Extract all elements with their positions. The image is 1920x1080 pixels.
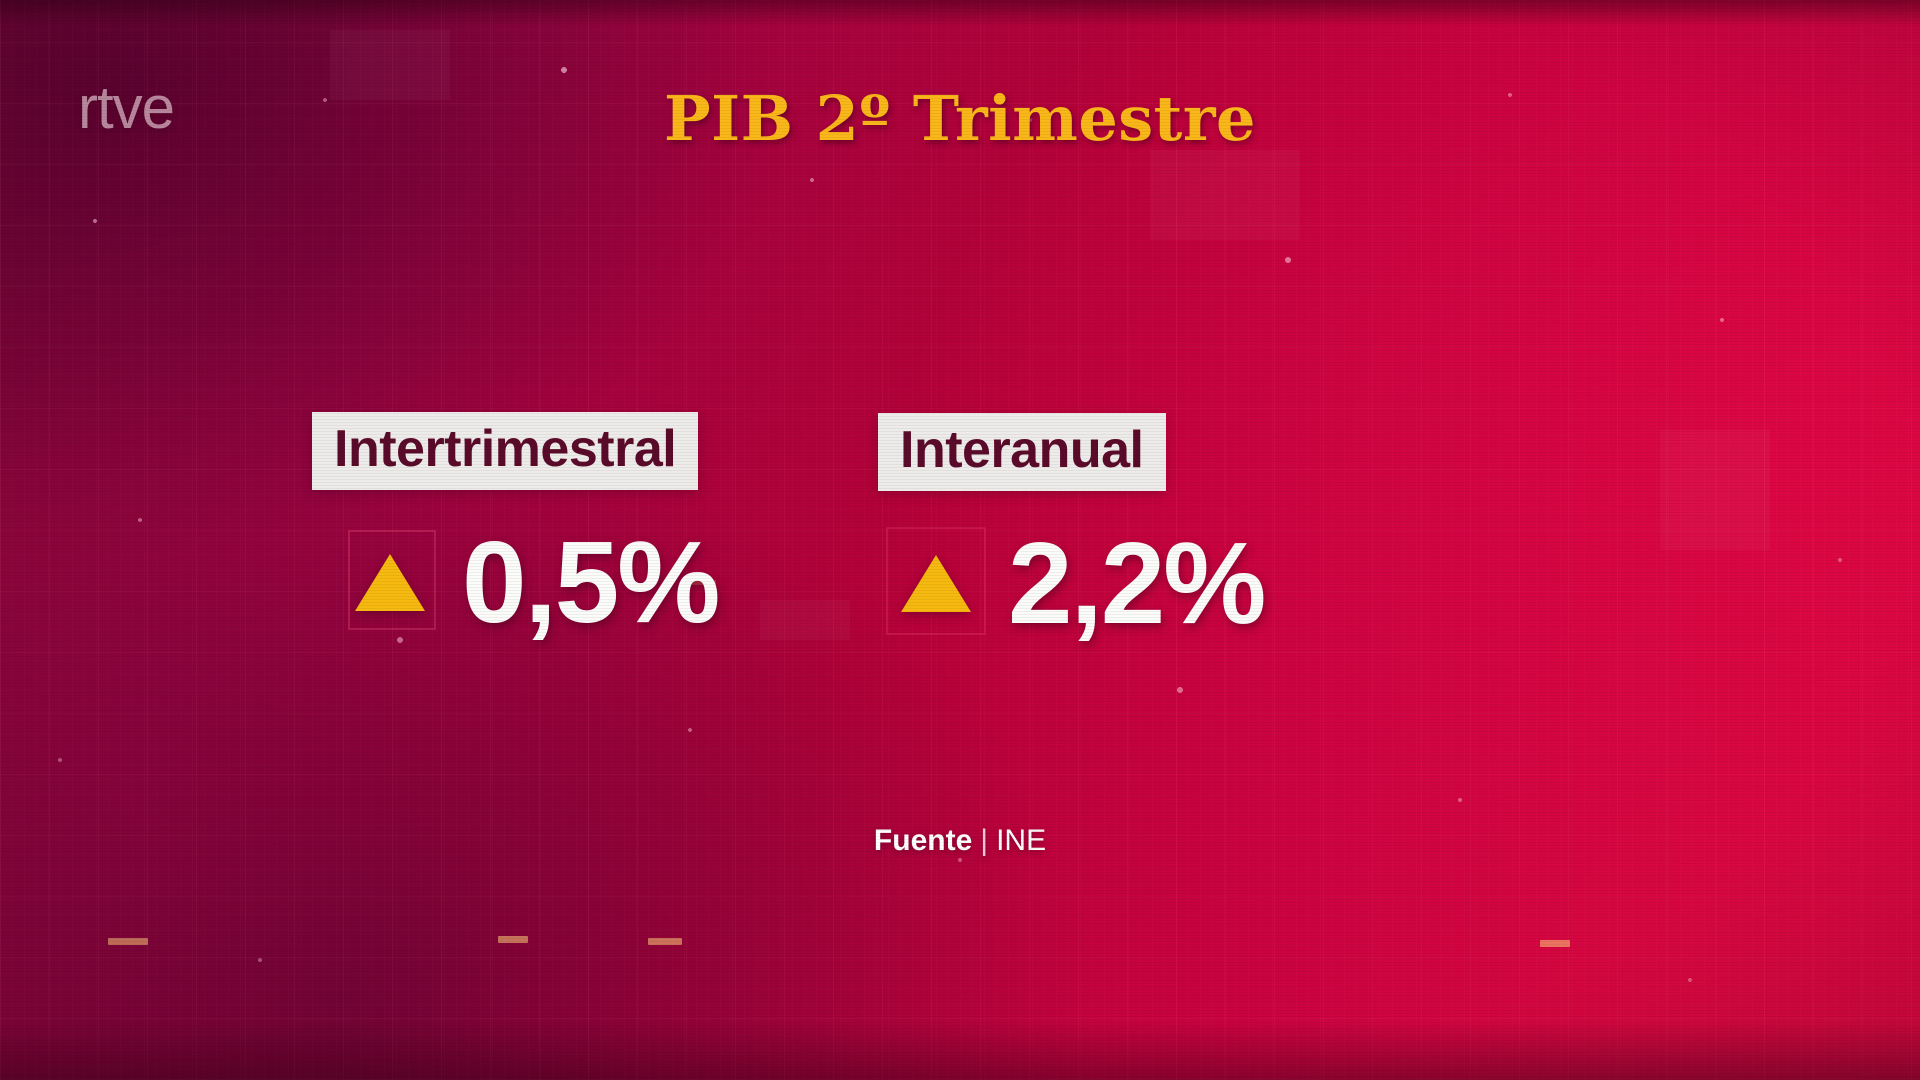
source-line: Fuente|INE: [0, 826, 1920, 856]
metric-value-intertrimestral: 0,5%: [462, 524, 718, 640]
metric-value-row-intertrimestral: 0,5%: [312, 524, 718, 640]
metric-value-interanual: 2,2%: [1008, 525, 1264, 641]
metric-label-intertrimestral: Intertrimestral: [334, 421, 676, 477]
triangle-up-icon: [355, 554, 425, 611]
metric-interanual: Interanual 2,2%: [878, 413, 1264, 641]
metric-label-box-intertrimestral: Intertrimestral: [312, 412, 698, 490]
broadcast-graphic: rtve PIB 2º Trimestre Intertrimestral 0,…: [0, 0, 1920, 1080]
metric-value-row-interanual: 2,2%: [878, 525, 1264, 641]
source-separator: |: [980, 824, 988, 857]
background-edge-bottom: [0, 1020, 1920, 1080]
metric-label-interanual: Interanual: [900, 422, 1144, 478]
background-edge-top: [0, 0, 1920, 26]
metric-intertrimestral: Intertrimestral 0,5%: [312, 412, 718, 640]
triangle-up-icon: [901, 555, 971, 612]
source-value: INE: [996, 824, 1046, 857]
triangle-up-icon-wrap-interanual: [890, 537, 982, 629]
source-label: Fuente: [874, 824, 972, 857]
page-title: PIB 2º Trimestre: [0, 88, 1920, 150]
triangle-up-icon-wrap-intertrimestral: [344, 536, 436, 628]
metric-label-box-interanual: Interanual: [878, 413, 1166, 491]
